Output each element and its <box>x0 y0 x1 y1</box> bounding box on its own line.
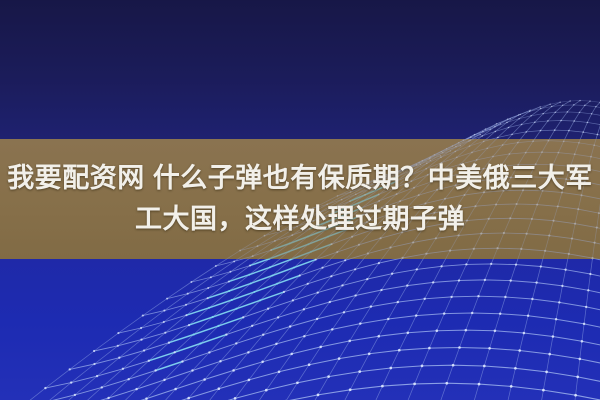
article-cover-banner: 我要配资网 什么子弹也有保质期？中美俄三大军 工大国，这样处理过期子弹 <box>0 0 600 400</box>
background-band-blue <box>0 259 600 400</box>
cover-headline: 我要配资网 什么子弹也有保质期？中美俄三大军 工大国，这样处理过期子弹 <box>0 158 600 240</box>
background-band-navy <box>0 0 600 139</box>
